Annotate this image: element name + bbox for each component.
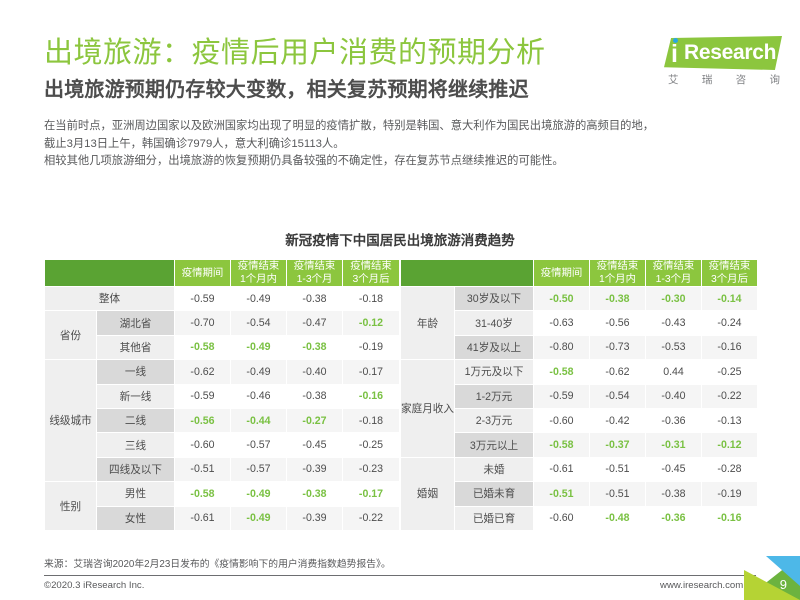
cell-value: -0.40 (287, 360, 343, 384)
cell-value: -0.50 (534, 287, 590, 311)
cell-value: -0.31 (646, 433, 702, 457)
row-group-label: 家庭月收入 (401, 360, 455, 458)
cell-value: -0.51 (590, 482, 646, 506)
cell-value: -0.38 (287, 335, 343, 359)
data-tables: 疫情期间疫情结束1个月内疫情结束1-3个月疫情结束3个月后 整体-0.59-0.… (44, 259, 756, 531)
table-left-col-header-3: 疫情结束1-3个月 (287, 260, 343, 287)
table-row: 1-2万元-0.59-0.54-0.40-0.22 (401, 384, 758, 408)
cell-value: -0.24 (702, 311, 758, 335)
cell-value: -0.39 (287, 457, 343, 481)
cell-value: -0.38 (287, 482, 343, 506)
cell-value: -0.56 (590, 311, 646, 335)
table-left: 疫情期间疫情结束1个月内疫情结束1-3个月疫情结束3个月后 整体-0.59-0.… (44, 259, 400, 531)
cell-value: -0.62 (175, 360, 231, 384)
cell-value: -0.63 (534, 311, 590, 335)
cell-value: -0.49 (231, 360, 287, 384)
table-row: 二线-0.56-0.44-0.27-0.18 (45, 408, 400, 432)
cell-value: -0.70 (175, 311, 231, 335)
table-row: 线级城市一线-0.62-0.49-0.40-0.17 (45, 360, 400, 384)
table-row: 3万元以上-0.58-0.37-0.31-0.12 (401, 433, 758, 457)
table-right-head: 疫情期间疫情结束1个月内疫情结束1-3个月疫情结束3个月后 (401, 260, 758, 287)
cell-value: -0.23 (343, 457, 400, 481)
chart-title: 新冠疫情下中国居民出境旅游消费趋势 (0, 229, 800, 249)
slide-header: 出境旅游：疫情后用户消费的预期分析 出境旅游预期仍存较大变数，相关复苏预期将继续… (44, 34, 760, 171)
cell-value: -0.49 (231, 287, 287, 311)
row-label: 1-2万元 (455, 384, 534, 408)
row-label: 四线及以下 (97, 457, 175, 481)
cell-value: -0.48 (590, 506, 646, 530)
table-right-header-blank (401, 260, 534, 287)
cell-value: -0.38 (287, 287, 343, 311)
cell-value: -0.18 (343, 287, 400, 311)
cell-value: -0.38 (287, 384, 343, 408)
cell-value: -0.80 (534, 335, 590, 359)
cell-value: -0.37 (590, 433, 646, 457)
source-note: 来源：艾瑞咨询2020年2月23日发布的《疫情影响下的用户消费指数趋势报告》。 (44, 556, 391, 570)
table-left-col-header-1: 疫情期间 (175, 260, 231, 287)
table-left-col-header-2: 疫情结束1个月内 (231, 260, 287, 287)
cell-value: -0.61 (534, 457, 590, 481)
table-row: 已婚未育-0.51-0.51-0.38-0.19 (401, 482, 758, 506)
cell-value: -0.60 (534, 408, 590, 432)
cell-value: -0.22 (343, 506, 400, 530)
cell-value: -0.62 (590, 360, 646, 384)
table-row: 其他省-0.58-0.49-0.38-0.19 (45, 335, 400, 359)
row-label: 二线 (97, 408, 175, 432)
cell-value: -0.46 (231, 384, 287, 408)
cell-value: -0.61 (175, 506, 231, 530)
cell-value: -0.59 (175, 384, 231, 408)
row-label: 一线 (97, 360, 175, 384)
cell-value: -0.60 (534, 506, 590, 530)
cell-value: -0.36 (646, 506, 702, 530)
logo-cn-char-2: 瑞 (702, 72, 713, 87)
cell-value: -0.13 (702, 408, 758, 432)
cell-value: -0.39 (287, 506, 343, 530)
cell-value: -0.27 (287, 408, 343, 432)
row-label: 3万元以上 (455, 433, 534, 457)
cell-value: -0.58 (175, 335, 231, 359)
table-right: 疫情期间疫情结束1个月内疫情结束1-3个月疫情结束3个月后 年龄30岁及以下-0… (400, 259, 758, 531)
table-row: 整体-0.59-0.49-0.38-0.18 (45, 287, 400, 311)
logo-badge: i Research (664, 36, 782, 70)
cell-value: -0.18 (343, 408, 400, 432)
row-label: 男性 (97, 482, 175, 506)
logo-cn-char-1: 艾 (668, 72, 679, 87)
cell-value: -0.43 (646, 311, 702, 335)
cell-value: -0.51 (534, 482, 590, 506)
cell-value: -0.44 (231, 408, 287, 432)
table-row: 新一线-0.59-0.46-0.38-0.16 (45, 384, 400, 408)
logo-chinese-name: 艾 瑞 咨 询 (668, 72, 780, 87)
cell-value: -0.40 (646, 384, 702, 408)
row-label: 新一线 (97, 384, 175, 408)
cell-value: 0.44 (646, 360, 702, 384)
cell-value: -0.45 (287, 433, 343, 457)
cell-value: -0.59 (534, 384, 590, 408)
logo-cn-char-3: 咨 (736, 72, 747, 87)
cell-value: -0.25 (702, 360, 758, 384)
cell-value: -0.59 (175, 287, 231, 311)
cell-value: -0.17 (343, 482, 400, 506)
table-right-header-row: 疫情期间疫情结束1个月内疫情结束1-3个月疫情结束3个月后 (401, 260, 758, 287)
cell-value: -0.42 (590, 408, 646, 432)
cell-value: -0.12 (343, 311, 400, 335)
table-row: 2-3万元-0.60-0.42-0.36-0.13 (401, 408, 758, 432)
cell-value: -0.51 (175, 457, 231, 481)
row-group-label: 线级城市 (45, 360, 97, 482)
table-row: 三线-0.60-0.57-0.45-0.25 (45, 433, 400, 457)
table-right-col-header-2: 疫情结束1个月内 (590, 260, 646, 287)
cell-value: -0.53 (646, 335, 702, 359)
table-row: 省份湖北省-0.70-0.54-0.47-0.12 (45, 311, 400, 335)
cell-value: -0.36 (646, 408, 702, 432)
row-label: 三线 (97, 433, 175, 457)
table-row: 41岁及以上-0.80-0.73-0.53-0.16 (401, 335, 758, 359)
row-label: 2-3万元 (455, 408, 534, 432)
cell-value: -0.30 (646, 287, 702, 311)
row-label: 女性 (97, 506, 175, 530)
table-right-col-header-4: 疫情结束3个月后 (702, 260, 758, 287)
cell-value: -0.57 (231, 433, 287, 457)
cell-value: -0.17 (343, 360, 400, 384)
cell-value: -0.49 (231, 482, 287, 506)
cell-value: -0.54 (231, 311, 287, 335)
cell-value: -0.73 (590, 335, 646, 359)
table-row: 女性-0.61-0.49-0.39-0.22 (45, 506, 400, 530)
table-right-col-header-3: 疫情结束1-3个月 (646, 260, 702, 287)
cell-value: -0.57 (231, 457, 287, 481)
cell-value: -0.47 (287, 311, 343, 335)
table-left-body: 整体-0.59-0.49-0.38-0.18省份湖北省-0.70-0.54-0.… (45, 287, 400, 531)
row-label: 未婚 (455, 457, 534, 481)
row-group-label: 年龄 (401, 287, 455, 360)
row-label: 其他省 (97, 335, 175, 359)
table-row: 家庭月收入1万元及以下-0.58-0.620.44-0.25 (401, 360, 758, 384)
cell-value: -0.58 (175, 482, 231, 506)
table-left-col-header-4: 疫情结束3个月后 (343, 260, 400, 287)
cell-value: -0.22 (702, 384, 758, 408)
logo-wordmark: Research (684, 41, 776, 65)
table-right-body: 年龄30岁及以下-0.50-0.38-0.30-0.1431-40岁-0.63-… (401, 287, 758, 531)
table-right-col-header-1: 疫情期间 (534, 260, 590, 287)
cell-value: -0.58 (534, 360, 590, 384)
table-left-head: 疫情期间疫情结束1个月内疫情结束1-3个月疫情结束3个月后 (45, 260, 400, 287)
cell-value: -0.16 (343, 384, 400, 408)
table-row: 31-40岁-0.63-0.56-0.43-0.24 (401, 311, 758, 335)
body-line-3: 相较其他几项旅游细分，出境旅游的恢复预期仍具备较强的不确定性，存在复苏节点继续推… (44, 153, 760, 171)
row-label: 已婚已育 (455, 506, 534, 530)
cell-value: -0.14 (702, 287, 758, 311)
row-group-label: 性别 (45, 482, 97, 531)
corner-decoration: 9 (744, 556, 800, 600)
cell-value: -0.58 (534, 433, 590, 457)
cell-value: -0.56 (175, 408, 231, 432)
cell-value: -0.16 (702, 506, 758, 530)
row-group-label: 婚姻 (401, 457, 455, 530)
cell-value: -0.28 (702, 457, 758, 481)
cell-value: -0.25 (343, 433, 400, 457)
row-group-label: 省份 (45, 311, 97, 360)
body-line-2: 截止3月13日上午，韩国确诊7979人，意大利确诊15113人。 (44, 136, 760, 154)
row-label: 30岁及以下 (455, 287, 534, 311)
table-left-header-row: 疫情期间疫情结束1个月内疫情结束1-3个月疫情结束3个月后 (45, 260, 400, 287)
row-label: 31-40岁 (455, 311, 534, 335)
iresearch-logo: i Research 艾 瑞 咨 询 (664, 36, 782, 90)
footer-divider (44, 575, 756, 576)
cell-value: -0.54 (590, 384, 646, 408)
cell-value: -0.45 (646, 457, 702, 481)
slide-canvas: 出境旅游：疫情后用户消费的预期分析 出境旅游预期仍存较大变数，相关复苏预期将继续… (0, 0, 800, 600)
table-row: 已婚已育-0.60-0.48-0.36-0.16 (401, 506, 758, 530)
table-row: 婚姻未婚-0.61-0.51-0.45-0.28 (401, 457, 758, 481)
cell-value: -0.38 (646, 482, 702, 506)
page-subtitle: 出境旅游预期仍存较大变数，相关复苏预期将继续推迟 (44, 75, 760, 105)
website-url: www.iresearch.com.cn (660, 580, 756, 591)
table-row: 年龄30岁及以下-0.50-0.38-0.30-0.14 (401, 287, 758, 311)
table-row: 四线及以下-0.51-0.57-0.39-0.23 (45, 457, 400, 481)
body-line-1: 在当前时点，亚洲周边国家以及欧洲国家均出现了明显的疫情扩散，特别是韩国、意大利作… (44, 118, 760, 136)
cell-value: -0.49 (231, 506, 287, 530)
row-label: 1万元及以下 (455, 360, 534, 384)
logo-cn-char-4: 询 (769, 72, 780, 87)
copyright-text: ©2020.3 iResearch Inc. (44, 580, 144, 591)
row-label: 已婚未育 (455, 482, 534, 506)
table-left-header-blank (45, 260, 175, 287)
row-label: 湖北省 (97, 311, 175, 335)
cell-value: -0.16 (702, 335, 758, 359)
cell-value: -0.19 (702, 482, 758, 506)
cell-value: -0.38 (590, 287, 646, 311)
page-title: 出境旅游：疫情后用户消费的预期分析 (44, 34, 760, 72)
page-number: 9 (780, 577, 787, 592)
cell-value: -0.49 (231, 335, 287, 359)
row-label: 41岁及以上 (455, 335, 534, 359)
logo-i-letter: i (671, 42, 678, 67)
cell-value: -0.60 (175, 433, 231, 457)
body-copy: 在当前时点，亚洲周边国家以及欧洲国家均出现了明显的疫情扩散，特别是韩国、意大利作… (44, 118, 760, 171)
row-label: 整体 (45, 287, 175, 311)
table-row: 性别男性-0.58-0.49-0.38-0.17 (45, 482, 400, 506)
cell-value: -0.12 (702, 433, 758, 457)
cell-value: -0.19 (343, 335, 400, 359)
cell-value: -0.51 (590, 457, 646, 481)
